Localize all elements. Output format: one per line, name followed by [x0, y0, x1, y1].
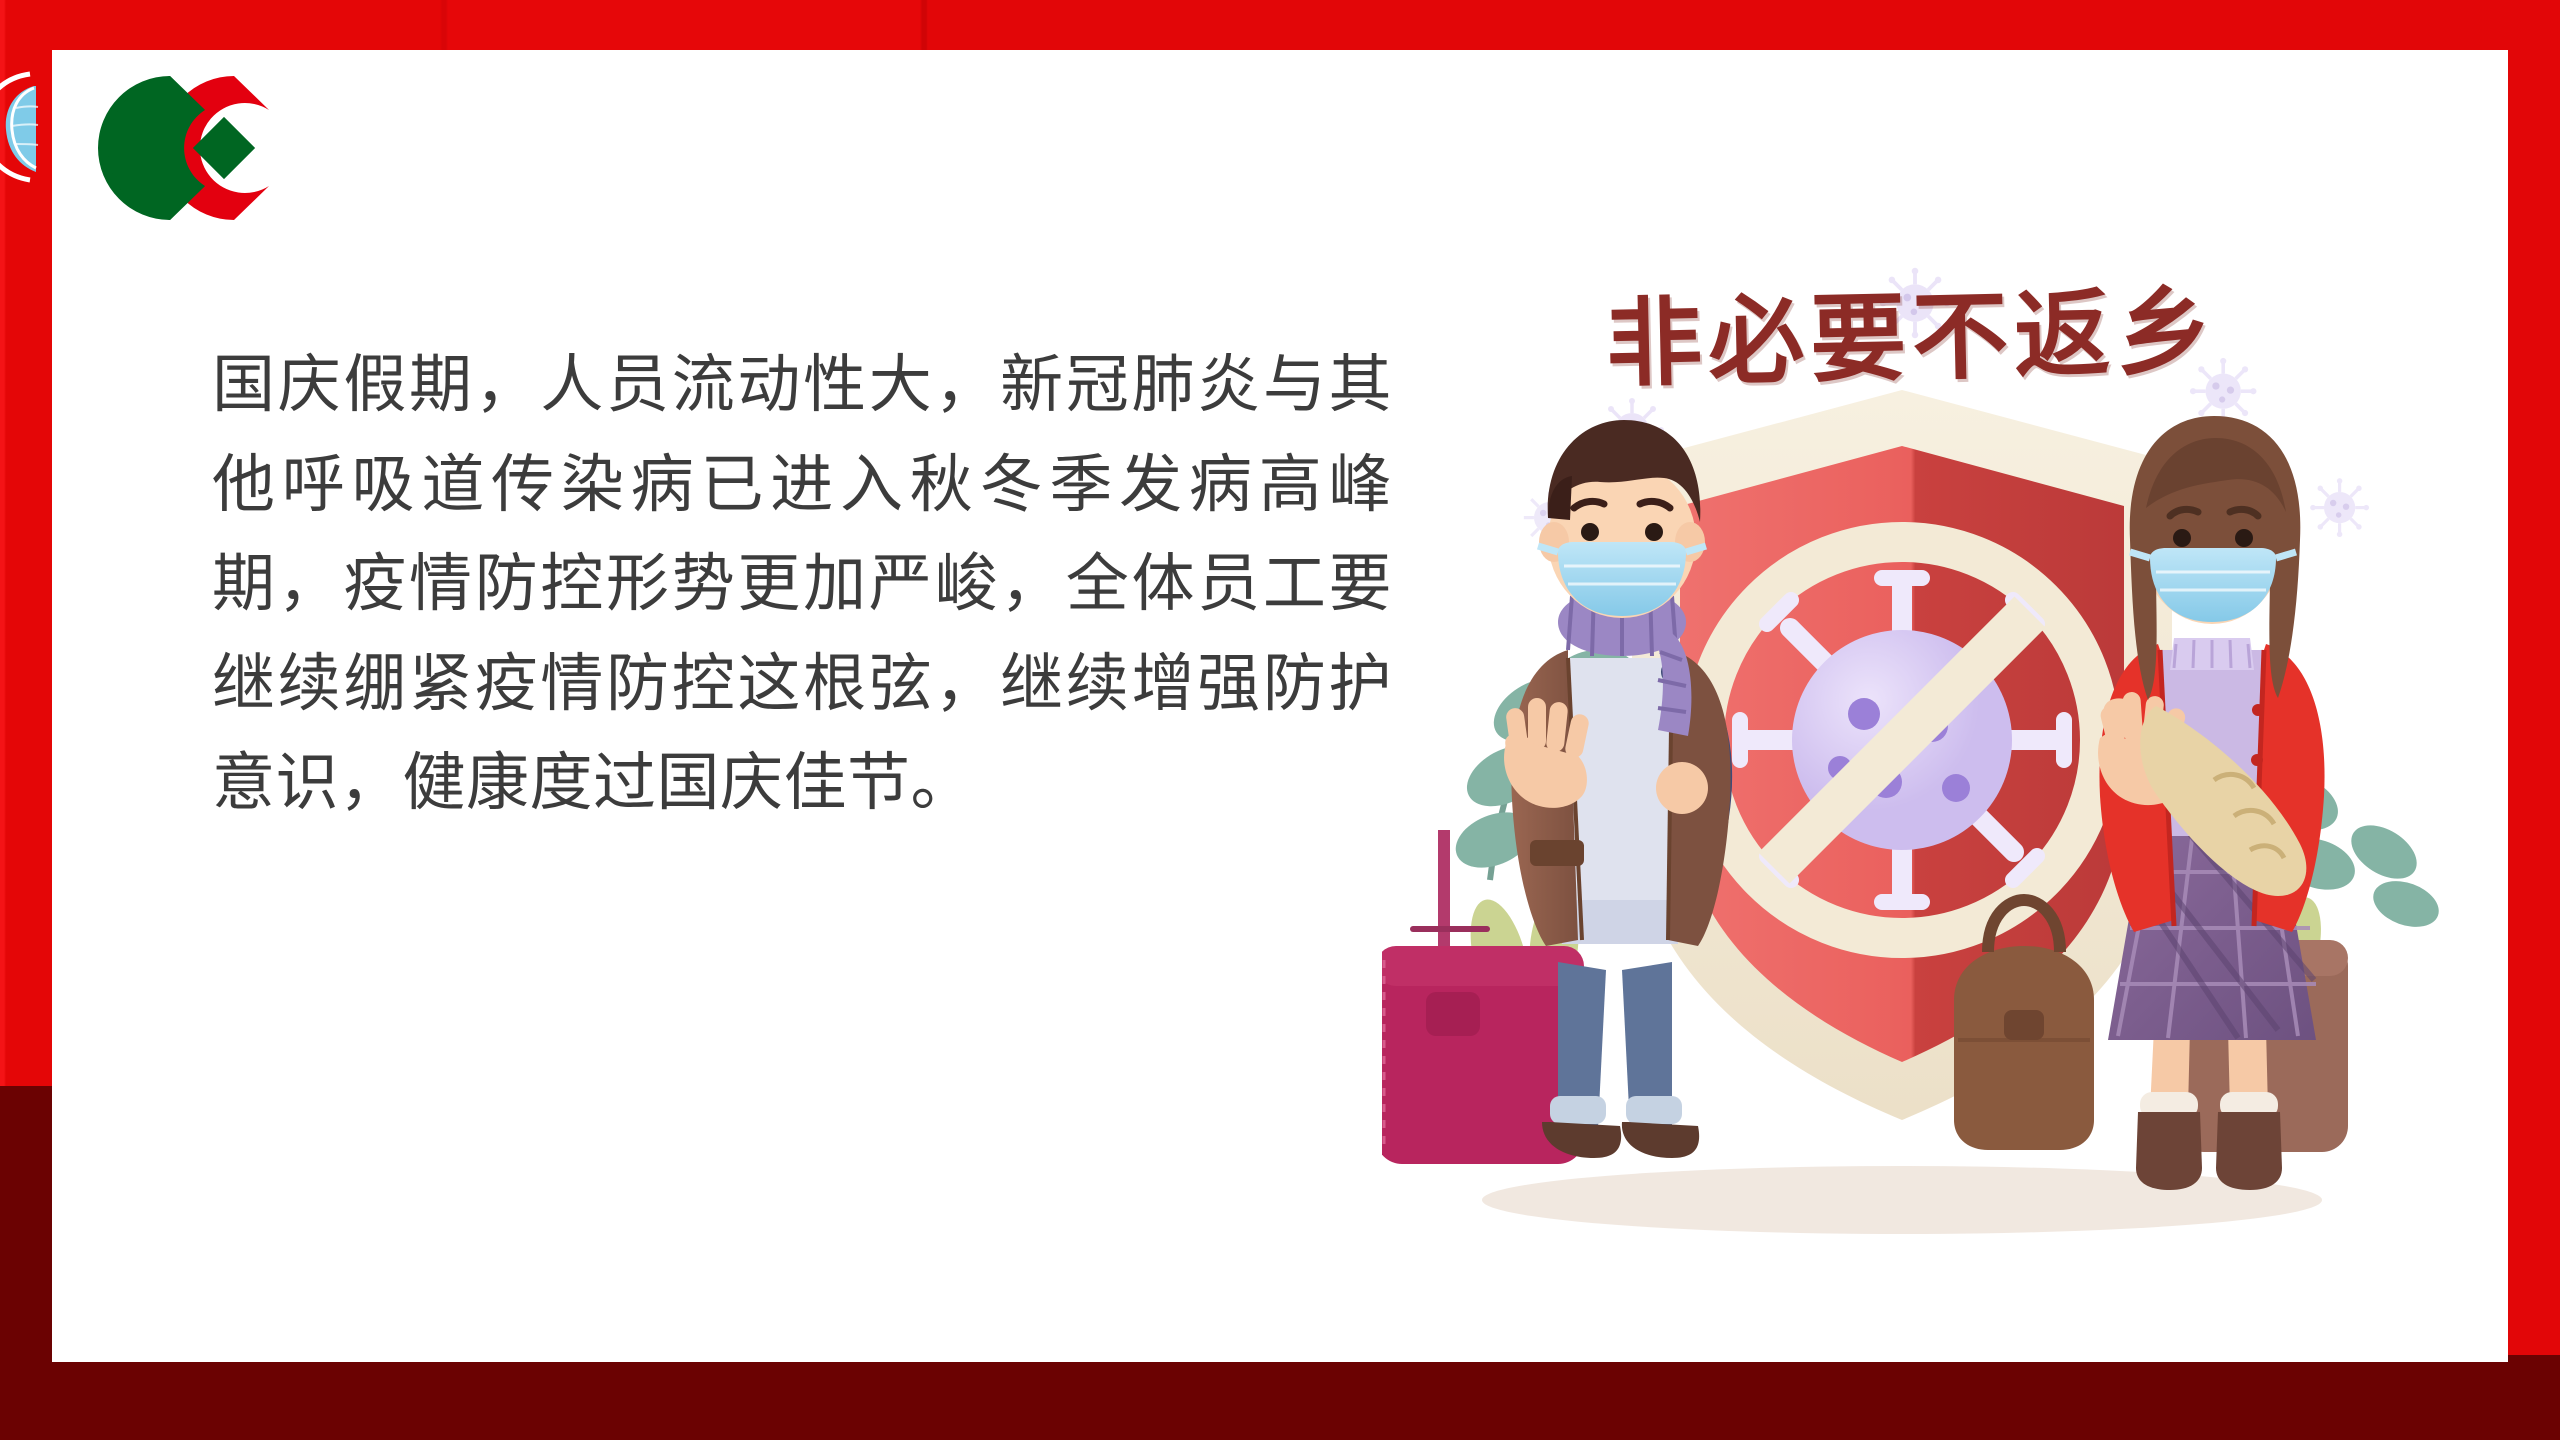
- bottom-dark-band: [0, 1355, 2560, 1440]
- company-logo-icon: [74, 58, 324, 238]
- slide-root: 国庆假期，人员流动性大，新冠肺炎与其他呼吸道传染病已进入秋冬季发病高峰期，疫情防…: [0, 0, 2560, 1440]
- content-card: 国庆假期，人员流动性大，新冠肺炎与其他呼吸道传染病已进入秋冬季发病高峰期，疫情防…: [52, 50, 2508, 1362]
- man-with-mask-figure: [1382, 420, 1731, 1164]
- left-dark-band: [0, 1086, 52, 1440]
- body-paragraph: 国庆假期，人员流动性大，新冠肺炎与其他呼吸道传染病已进入秋冬季发病高峰期，疫情防…: [212, 336, 1392, 834]
- illustration-block: 非必要不返乡: [1382, 240, 2442, 1290]
- illustration-heading: 非必要不返乡: [1441, 250, 2384, 409]
